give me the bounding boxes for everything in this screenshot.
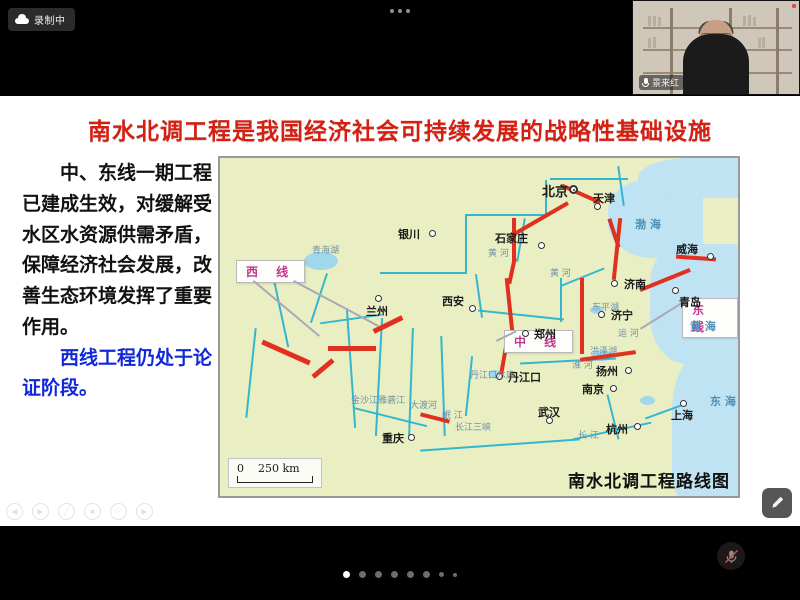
eraser-icon[interactable]: ■ [84, 503, 101, 520]
city-label: 重庆 [382, 430, 404, 446]
city-label: 杭州 [606, 421, 628, 437]
slide-body-text: 中、东线一期工程已建成生效，对缓解受水区水资源供需矛盾，保障经济社会发展，改善生… [22, 158, 212, 404]
paragraph-west-line: 西线工程仍处于论证阶段。 [22, 343, 212, 405]
river-jinsha [346, 308, 356, 428]
city-dot [707, 253, 714, 260]
participant-name: 景来红 [652, 76, 679, 89]
city-dot [429, 230, 436, 237]
river-label: 青海湖 [312, 243, 339, 256]
city-label: 上海 [671, 407, 693, 423]
river-label: 雅砻江 [378, 393, 405, 406]
pen-annotate-icon[interactable] [762, 488, 792, 518]
river-yangtze [420, 438, 580, 451]
city-label: 兰州 [366, 303, 388, 319]
city-label: 西安 [442, 293, 464, 309]
city-label: 南京 [582, 381, 604, 397]
river-label: 洪泽湖 [590, 344, 617, 357]
city-label: 武汉 [538, 404, 560, 420]
page-dot[interactable] [423, 571, 430, 578]
river-label: 长 江 [578, 428, 599, 441]
slide-title: 南水北调工程是我国经济社会可持续发展的战略性基础设施 [0, 112, 800, 146]
page-dot[interactable] [391, 571, 398, 578]
lake-taihu [640, 396, 655, 405]
recording-indicator [792, 4, 796, 8]
sea-label: 渤 海 [635, 216, 661, 232]
sea-north-edge [638, 158, 740, 198]
city-label: 扬州 [596, 363, 618, 379]
paragraph-main: 中、东线一期工程已建成生效，对缓解受水区水资源供需矛盾，保障经济社会发展，改善生… [22, 158, 212, 343]
recording-label: 录制中 [34, 12, 66, 27]
city-label: 石家庄 [495, 230, 528, 246]
microphone-muted-icon[interactable] [717, 542, 745, 570]
scalebar-graphic [237, 476, 313, 483]
map-caption: 南水北调工程路线图 [568, 467, 730, 492]
map-scalebar: 0 250 km [228, 458, 322, 488]
participant-video-tile[interactable]: 景来红 [632, 0, 800, 95]
city-dot [569, 185, 578, 194]
city-dot [538, 242, 545, 249]
dot [390, 9, 394, 13]
river-label: 黄 河 [550, 266, 571, 279]
shared-slide[interactable]: 南水北调工程是我国经济社会可持续发展的战略性基础设施 中、东线一期工程已建成生效… [0, 96, 800, 526]
page-dot[interactable] [407, 571, 414, 578]
forward-icon[interactable]: ▶ [136, 503, 153, 520]
river-yellow [465, 214, 547, 216]
recording-badge: 录制中 [8, 8, 75, 31]
slide-toolbar[interactable]: ◀ ▶ ╱ ■ ☉ ▶ [6, 503, 153, 520]
river-branch [273, 279, 290, 348]
city-dot [469, 305, 476, 312]
page-dot[interactable] [439, 572, 444, 577]
river-label: 黄 河 [488, 246, 509, 259]
page-dot[interactable] [343, 571, 350, 578]
rewind-icon[interactable]: ◀ [6, 503, 23, 520]
sea-label: 东 海 [710, 393, 736, 409]
callout-label: 西 线 [246, 265, 295, 279]
river-yellow [465, 214, 467, 274]
microphone-icon [642, 78, 649, 88]
dot [406, 9, 410, 13]
route-west-line [311, 358, 334, 379]
river-yellow [380, 272, 467, 274]
more-dots-icon[interactable] [390, 9, 410, 13]
river-label: 运 河 [618, 326, 639, 339]
river-label: 大渡河 [410, 398, 437, 411]
meeting-screen: 录制中 [0, 0, 800, 600]
sea-label: 黄 海 [690, 318, 716, 334]
scale-zero: 0 [237, 462, 244, 475]
map-figure: 西 线 中 线 东 线 北京天津石家庄济南济宁青岛威海郑州西安兰州银川丹江口武汉… [218, 156, 740, 498]
page-indicator[interactable] [343, 571, 457, 578]
river-han [465, 356, 473, 416]
cloud-icon [15, 15, 29, 24]
river-label: 丹江口水库 [470, 368, 515, 381]
laser-icon[interactable]: ☉ [110, 503, 127, 520]
route-west-line [328, 346, 376, 351]
city-label: 郑州 [534, 326, 556, 342]
city-label: 天津 [593, 190, 615, 206]
city-label: 济南 [624, 276, 646, 292]
city-label: 北京 [542, 181, 568, 200]
river-branch [245, 328, 256, 418]
route-east-line [580, 278, 584, 354]
scale-value: 250 km [258, 462, 300, 475]
play-icon[interactable]: ▶ [32, 503, 49, 520]
city-dot [611, 280, 618, 287]
river-yellow [550, 178, 628, 180]
city-label: 青岛 [679, 294, 701, 310]
page-dot[interactable] [359, 571, 366, 578]
river-label: 东平湖 [592, 300, 619, 313]
city-dot [634, 423, 641, 430]
river-label: 金沙江 [351, 393, 378, 406]
city-dot [408, 434, 415, 441]
city-dot [522, 330, 529, 337]
city-label: 威海 [676, 241, 698, 257]
city-dot [625, 367, 632, 374]
river-dadu [408, 328, 414, 436]
pen-icon[interactable]: ╱ [58, 503, 75, 520]
person-body [683, 34, 749, 94]
river-yellow [478, 310, 564, 321]
city-dot [672, 287, 679, 294]
city-dot [680, 400, 687, 407]
river-yalong [375, 318, 383, 436]
participant-nameplate: 景来红 [639, 75, 684, 90]
river-label: 淮 河 [572, 358, 593, 371]
river-label: 长江三峡 [455, 420, 491, 433]
city-label: 银川 [398, 226, 420, 242]
city-dot [610, 385, 617, 392]
bottom-bar [0, 526, 800, 600]
dot [398, 9, 402, 13]
page-dot[interactable] [375, 571, 382, 578]
city-dot [375, 295, 382, 302]
page-dot[interactable] [453, 573, 457, 577]
